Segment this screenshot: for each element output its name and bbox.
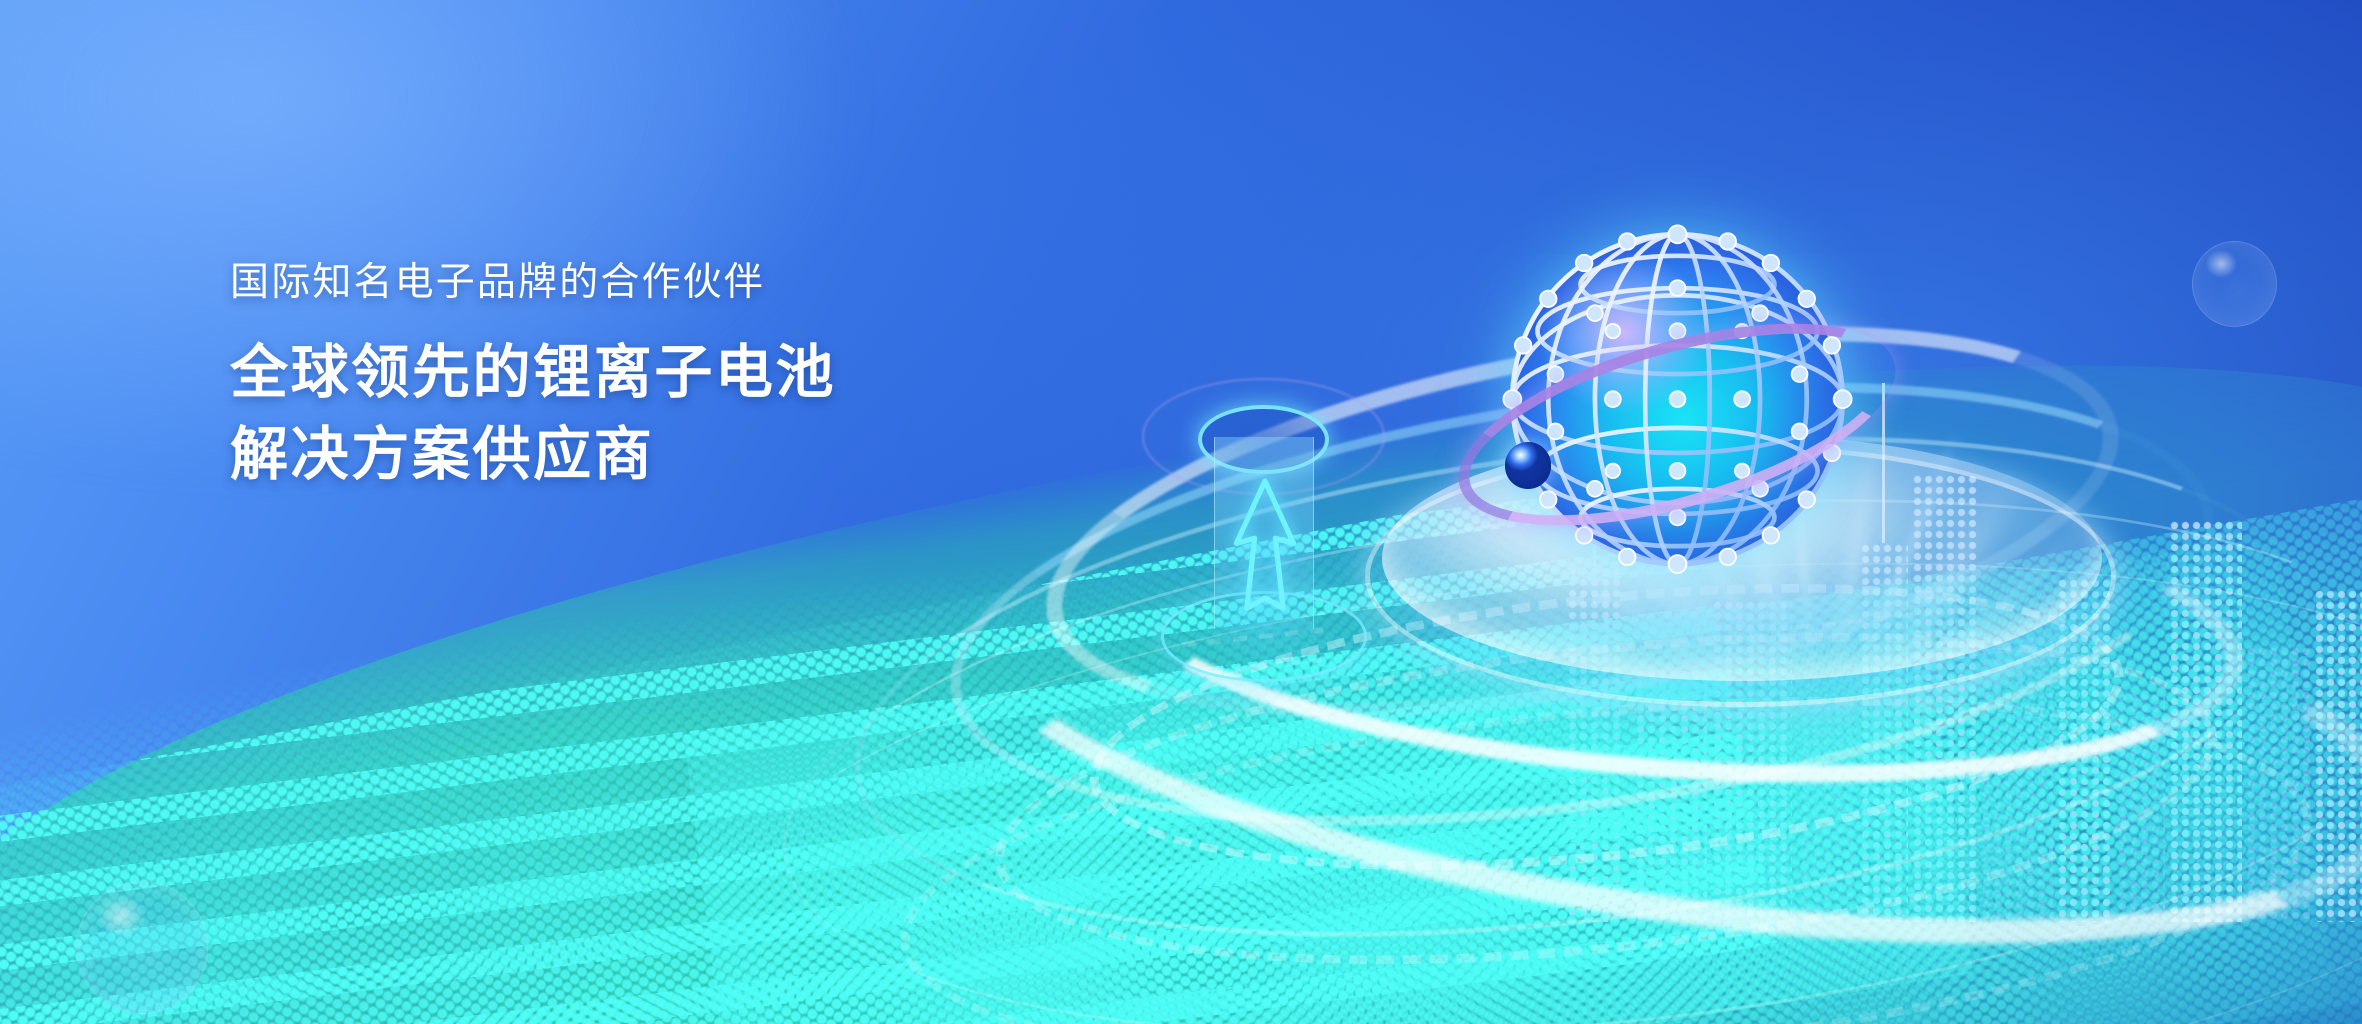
hero-copy: 国际知名电子品牌的合作伙伴 全球领先的锂离子电池 解决方案供应商 [230,260,836,497]
hero-banner: 国际知名电子品牌的合作伙伴 全球领先的锂离子电池 解决方案供应商 [0,0,2362,1024]
orbit-node-sphere [1505,442,1552,489]
banner-headline: 全球领先的锂离子电池 解决方案供应商 [230,332,836,497]
bubble-icon [76,881,208,1014]
holographic-beam-cylinder [1186,394,1342,660]
glowing-cursor-arrow-icon [1226,458,1304,644]
banner-subtitle: 国际知名电子品牌的合作伙伴 [230,260,836,306]
bubble-icon [2192,241,2277,327]
banner-headline-line-2: 解决方案供应商 [230,414,836,496]
wireframe-globe-icon [1498,220,1857,578]
banner-headline-line-1: 全球领先的锂离子电池 [230,332,836,414]
